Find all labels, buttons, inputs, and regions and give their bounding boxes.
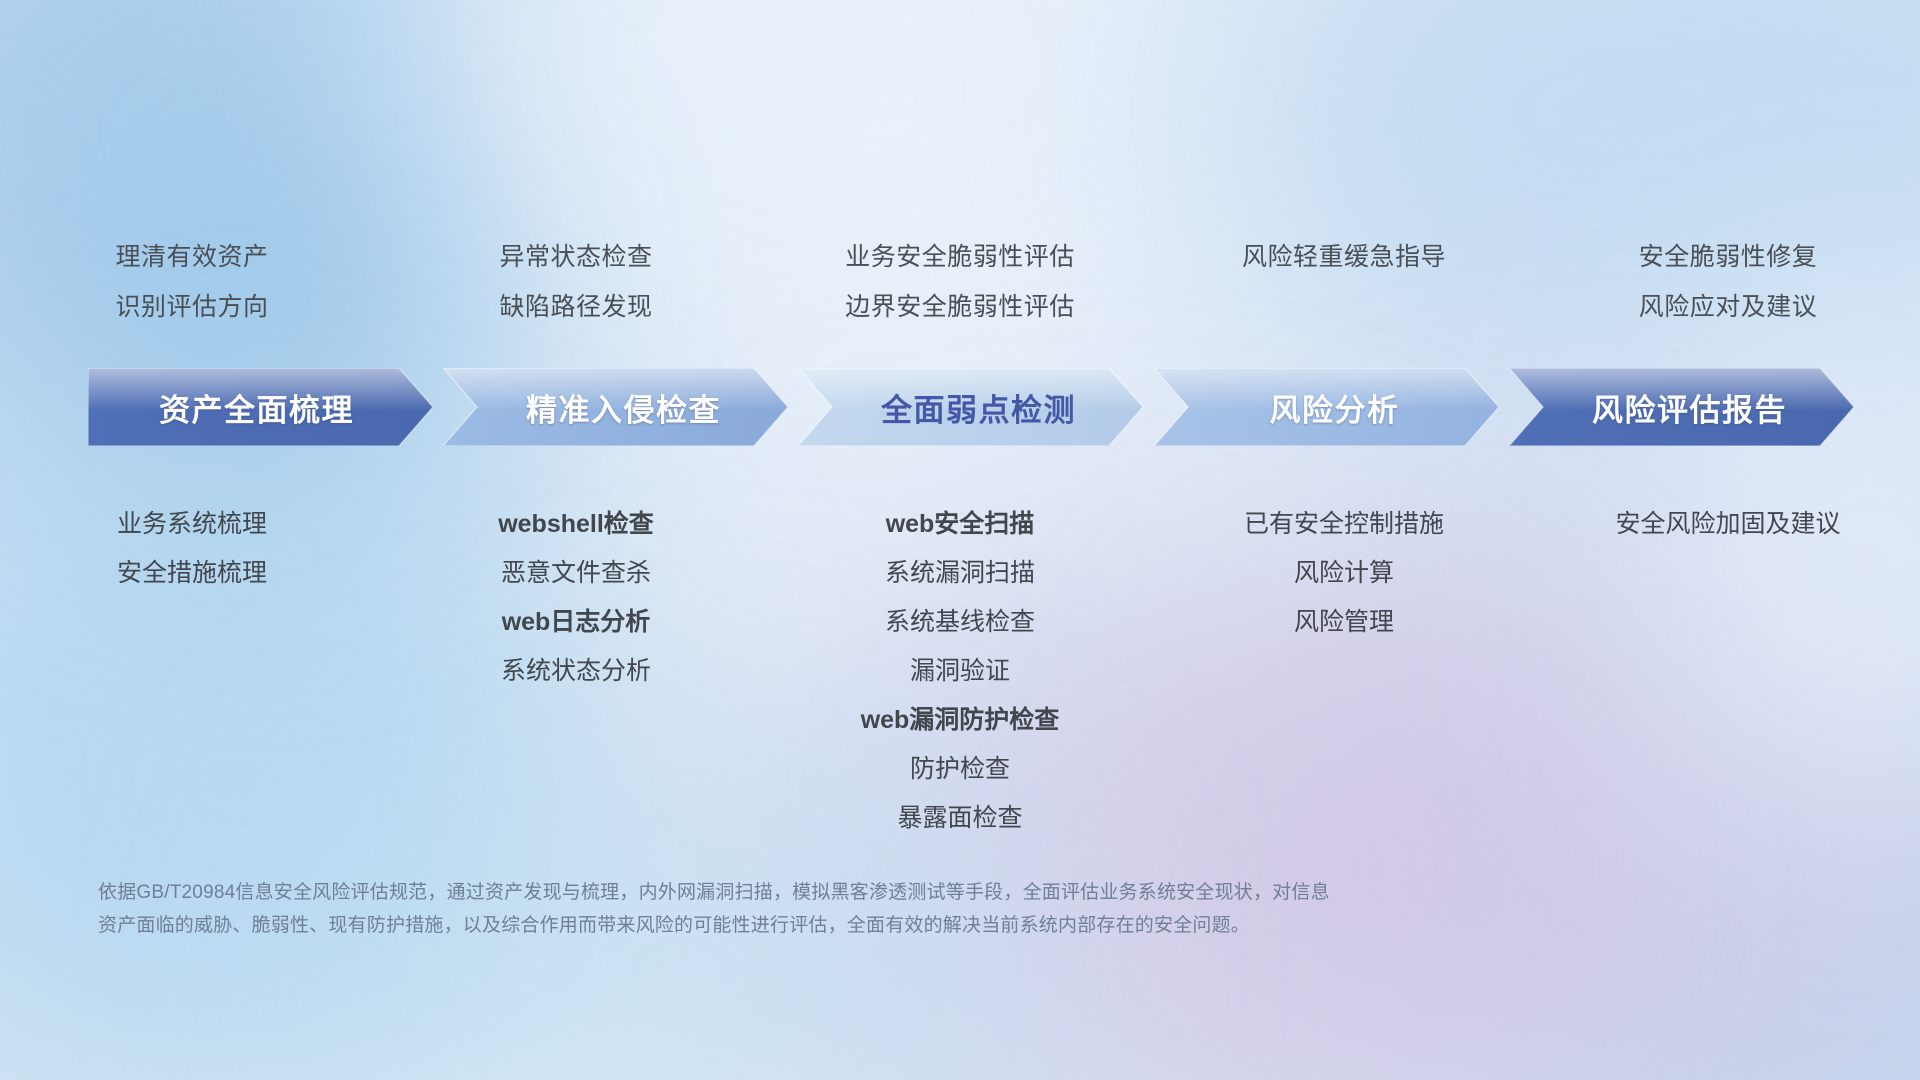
detail-item: 风险计算 bbox=[1294, 549, 1394, 598]
detail-item: 恶意文件查杀 bbox=[501, 549, 651, 598]
detail-item: web安全扫描 bbox=[886, 500, 1035, 549]
top-label-item: 缺陷路径发现 bbox=[499, 282, 652, 332]
top-label-item: 安全脆弱性修复 bbox=[1639, 232, 1818, 282]
stage-title-asset-inventory: 资产全面梳理 bbox=[159, 385, 354, 430]
top-labels-risk-analysis: 风险轻重缓急指导 bbox=[1152, 232, 1536, 342]
process-chevron-band: 资产全面梳理精准入侵检查全面弱点检测风险分析风险评估报告 bbox=[88, 368, 1864, 446]
detail-item: 系统状态分析 bbox=[501, 647, 651, 696]
stage-title-intrusion-check: 精准入侵检查 bbox=[526, 385, 721, 430]
top-label-item: 理清有效资产 bbox=[115, 232, 268, 282]
top-label-item: 风险应对及建议 bbox=[1639, 282, 1818, 332]
detail-item: 漏洞验证 bbox=[910, 647, 1010, 696]
footer-description: 依据GB/T20984信息安全风险评估规范，通过资产发现与梳理，内外网漏洞扫描，… bbox=[98, 876, 1658, 942]
process-stage-weakness-detection[interactable]: 全面弱点检测 bbox=[798, 368, 1153, 446]
detail-item: 防护检查 bbox=[910, 745, 1010, 794]
detail-item: 暴露面检查 bbox=[897, 794, 1022, 843]
top-labels-risk-report: 安全脆弱性修复风险应对及建议 bbox=[1536, 232, 1920, 342]
detail-list-risk-analysis: 已有安全控制措施风险计算风险管理 bbox=[1152, 500, 1536, 830]
process-stage-risk-analysis[interactable]: 风险分析 bbox=[1154, 368, 1509, 446]
top-label-item: 异常状态检查 bbox=[499, 232, 652, 282]
detail-item: 系统基线检查 bbox=[885, 598, 1035, 647]
top-label-item: 边界安全脆弱性评估 bbox=[845, 282, 1075, 332]
top-labels-asset-inventory: 理清有效资产识别评估方向 bbox=[0, 232, 384, 342]
detail-item: webshell检查 bbox=[498, 500, 654, 549]
footer-line-1: 依据GB/T20984信息安全风险评估规范，通过资产发现与梳理，内外网漏洞扫描，… bbox=[98, 876, 1658, 909]
bottom-details-row: 业务系统梳理安全措施梳理webshell检查恶意文件查杀web日志分析系统状态分… bbox=[0, 500, 1920, 830]
detail-item: 风险管理 bbox=[1294, 598, 1394, 647]
stage-title-risk-report: 风险评估报告 bbox=[1592, 385, 1787, 430]
detail-item: 安全风险加固及建议 bbox=[1615, 500, 1840, 549]
process-stage-asset-inventory[interactable]: 资产全面梳理 bbox=[88, 368, 443, 446]
detail-item: web日志分析 bbox=[502, 598, 651, 647]
detail-list-risk-report: 安全风险加固及建议 bbox=[1536, 500, 1920, 830]
process-stage-intrusion-check[interactable]: 精准入侵检查 bbox=[443, 368, 798, 446]
top-label-item: 业务安全脆弱性评估 bbox=[845, 232, 1075, 282]
detail-item: 业务系统梳理 bbox=[117, 500, 267, 549]
detail-list-intrusion-check: webshell检查恶意文件查杀web日志分析系统状态分析 bbox=[384, 500, 768, 830]
detail-list-asset-inventory: 业务系统梳理安全措施梳理 bbox=[0, 500, 384, 830]
top-labels-row: 理清有效资产识别评估方向异常状态检查缺陷路径发现业务安全脆弱性评估边界安全脆弱性… bbox=[0, 232, 1920, 342]
top-labels-intrusion-check: 异常状态检查缺陷路径发现 bbox=[384, 232, 768, 342]
stage-title-risk-analysis: 风险分析 bbox=[1270, 385, 1400, 430]
detail-list-weakness-detection: web安全扫描系统漏洞扫描系统基线检查漏洞验证web漏洞防护检查防护检查暴露面检… bbox=[768, 500, 1152, 830]
top-labels-weakness-detection: 业务安全脆弱性评估边界安全脆弱性评估 bbox=[768, 232, 1152, 342]
detail-item: 已有安全控制措施 bbox=[1244, 500, 1444, 549]
top-label-item: 风险轻重缓急指导 bbox=[1242, 232, 1446, 282]
top-label-item: 识别评估方向 bbox=[115, 282, 268, 332]
footer-line-2: 资产面临的威胁、脆弱性、现有防护措施，以及综合作用而带来风险的可能性进行评估，全… bbox=[98, 909, 1658, 942]
process-stage-risk-report[interactable]: 风险评估报告 bbox=[1509, 368, 1864, 446]
stage-title-weakness-detection: 全面弱点检测 bbox=[881, 385, 1076, 430]
detail-item: 系统漏洞扫描 bbox=[885, 549, 1035, 598]
detail-item: web漏洞防护检查 bbox=[861, 696, 1060, 745]
detail-item: 安全措施梳理 bbox=[117, 549, 267, 598]
